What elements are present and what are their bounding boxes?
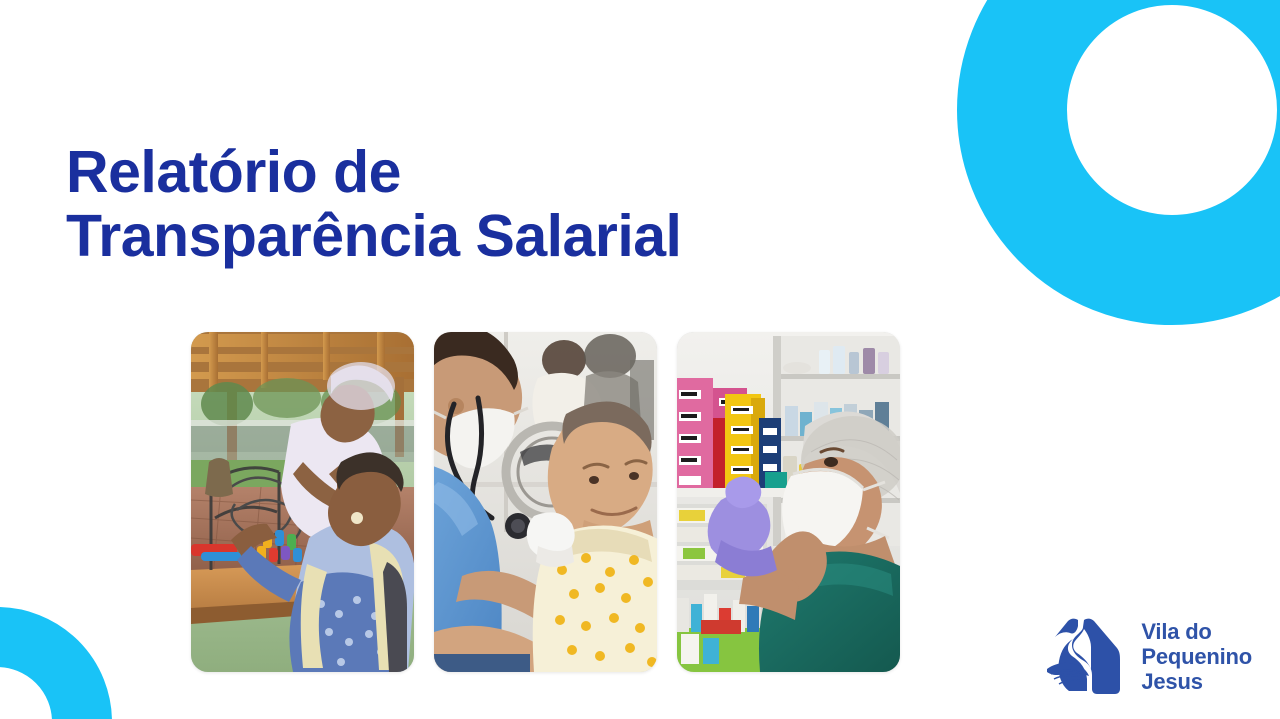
photo-caregiver-activity-icon: [191, 332, 414, 672]
page-title: Relatório de Transparência Salarial: [66, 140, 886, 268]
photo-nurse-stethoscope-icon: [434, 332, 657, 672]
photo-card-pharmacy-medication[interactable]: [677, 332, 900, 672]
dove-house-logo-icon: [1045, 617, 1129, 695]
photo-card-caregiver-activity[interactable]: [191, 332, 414, 672]
photo-card-nurse-stethoscope[interactable]: [434, 332, 657, 672]
photo-gallery: [191, 332, 900, 672]
photo-pharmacy-medication-icon: [677, 332, 900, 672]
presentation-slide: Relatório de Transparência Salarial: [0, 0, 1280, 719]
cyan-ring-bottom-left-icon: [0, 607, 112, 719]
cyan-ring-top-right-icon: [957, 0, 1280, 325]
organization-logo: Vila do Pequenino Jesus: [1045, 617, 1252, 695]
organization-name: Vila do Pequenino Jesus: [1141, 619, 1252, 694]
title-block: Relatório de Transparência Salarial: [66, 140, 886, 268]
